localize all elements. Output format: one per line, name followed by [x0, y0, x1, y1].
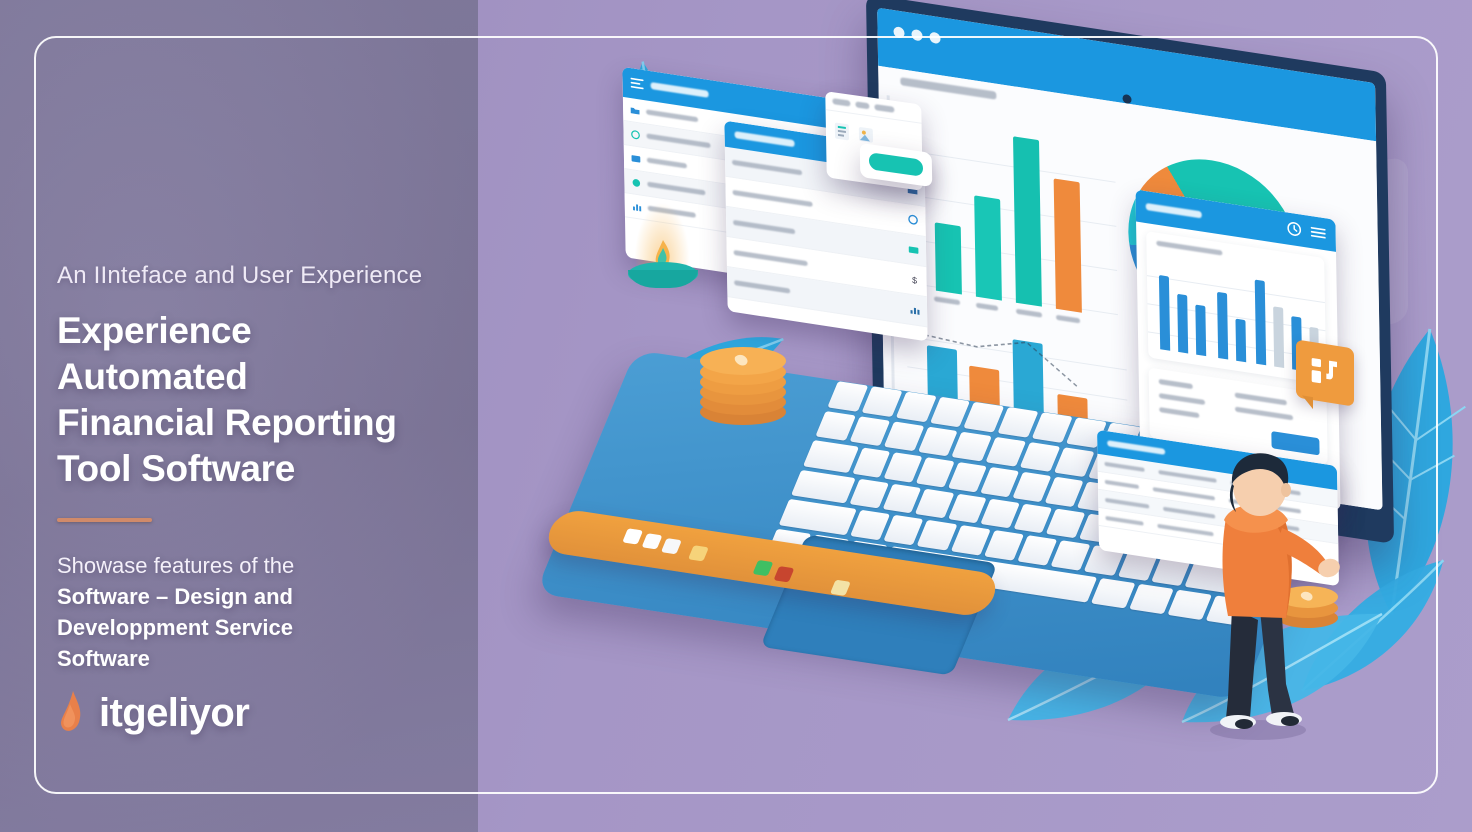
grid-app-icon[interactable]	[622, 528, 643, 544]
eyebrow-text: An IInteface and User Experience	[57, 262, 487, 290]
dollar-icon	[631, 177, 641, 189]
bar-3	[1054, 178, 1082, 312]
key[interactable]	[849, 416, 890, 446]
calendar-app-icon[interactable]	[642, 533, 663, 549]
promo-banner: $	[0, 0, 1472, 832]
subcopy-line-4: Software	[57, 643, 487, 674]
key[interactable]	[882, 483, 921, 513]
key[interactable]	[1054, 447, 1095, 477]
main-bar-chart	[915, 107, 1118, 318]
key[interactable]	[915, 488, 954, 518]
bar-0	[935, 222, 962, 294]
window-dot-minimize-icon[interactable]	[911, 29, 922, 42]
hero-illustration: $	[478, 0, 1472, 832]
folder-icon	[630, 104, 640, 116]
settings-icon[interactable]	[1311, 224, 1326, 241]
badge-tail	[1302, 395, 1313, 409]
headline-line-1: Experience	[57, 308, 487, 354]
svg-text:$: $	[912, 275, 917, 286]
toggle-icon[interactable]	[869, 152, 923, 177]
photos-app-icon[interactable]	[688, 545, 709, 561]
key[interactable]	[1046, 508, 1085, 538]
panel-title-placeholder	[1146, 203, 1202, 219]
bar-2	[1013, 136, 1042, 306]
brand-logo[interactable]: itgeliyor	[57, 690, 249, 736]
person-illustration	[1198, 440, 1348, 740]
key[interactable]	[964, 402, 1005, 432]
window-dot-close-icon[interactable]	[893, 26, 904, 39]
key[interactable]	[1013, 503, 1052, 533]
headline-line-4: Tool Software	[57, 446, 487, 492]
music-app-icon[interactable]	[773, 566, 794, 582]
brand-name: itgeliyor	[99, 691, 249, 736]
key[interactable]	[862, 386, 903, 416]
bar-1	[974, 195, 1002, 300]
desk-lamp	[616, 196, 726, 306]
key[interactable]	[883, 421, 924, 451]
key-arrow-left[interactable]	[1129, 583, 1174, 614]
panel-title-placeholder	[651, 82, 709, 98]
lamp-base	[628, 270, 698, 288]
subcopy-line-3: Developpment Service	[57, 612, 487, 643]
key[interactable]	[884, 515, 924, 545]
key[interactable]	[918, 426, 959, 456]
subcopy-line-2: Software – Design and	[57, 581, 487, 612]
dollar-icon[interactable]: $	[909, 274, 920, 287]
key[interactable]	[1051, 540, 1091, 570]
key[interactable]	[1017, 535, 1057, 565]
mail-icon[interactable]	[908, 243, 919, 256]
image-icon[interactable]	[858, 125, 874, 145]
accent-divider	[57, 518, 152, 522]
clock-icon[interactable]	[1287, 220, 1302, 237]
refresh-icon	[630, 129, 640, 141]
mail-icon	[631, 153, 641, 165]
text-icon[interactable]	[834, 121, 850, 141]
coin-symbol-icon	[731, 351, 755, 371]
key[interactable]	[917, 520, 957, 550]
key[interactable]	[850, 510, 890, 540]
key[interactable]	[1012, 472, 1051, 502]
key[interactable]	[986, 436, 1027, 466]
key[interactable]	[1020, 442, 1061, 472]
window-dot-maximize-icon[interactable]	[929, 32, 940, 45]
key[interactable]	[980, 498, 1019, 528]
panel-title-placeholder	[735, 131, 795, 147]
flame-icon	[57, 690, 85, 736]
key[interactable]	[951, 525, 991, 555]
key[interactable]	[984, 530, 1024, 560]
key-caps[interactable]	[791, 469, 856, 503]
page-title: Experience Automated Financial Reporting…	[57, 308, 487, 492]
award-badge[interactable]	[1296, 339, 1354, 406]
key-alt-right[interactable]	[1091, 578, 1136, 609]
subcopy-line-1: Showase features of the	[57, 550, 487, 581]
headline-line-3: Financial Reporting	[57, 400, 487, 446]
key[interactable]	[1032, 412, 1073, 442]
key[interactable]	[1045, 477, 1084, 507]
menu-icon[interactable]	[630, 76, 643, 91]
coin-stack	[700, 345, 790, 445]
hero-copy: An IInteface and User Experience Experie…	[57, 262, 487, 674]
key[interactable]	[948, 493, 987, 523]
standing-user-figure	[1198, 440, 1348, 740]
chart-icon[interactable]	[909, 304, 920, 317]
award-badge-icon	[1309, 353, 1341, 390]
key[interactable]	[998, 407, 1039, 437]
hero-subcopy: Showase features of the Software – Desig…	[57, 550, 487, 675]
notes-app-icon[interactable]	[661, 538, 682, 554]
key[interactable]	[850, 478, 889, 508]
refresh-icon[interactable]	[907, 213, 918, 226]
key-tab[interactable]	[803, 440, 859, 473]
key[interactable]	[930, 397, 971, 427]
key[interactable]	[952, 431, 993, 461]
headline-line-2: Automated	[57, 354, 487, 400]
key[interactable]	[896, 391, 937, 421]
files-app-icon[interactable]	[830, 580, 851, 596]
messages-app-icon[interactable]	[752, 560, 773, 576]
